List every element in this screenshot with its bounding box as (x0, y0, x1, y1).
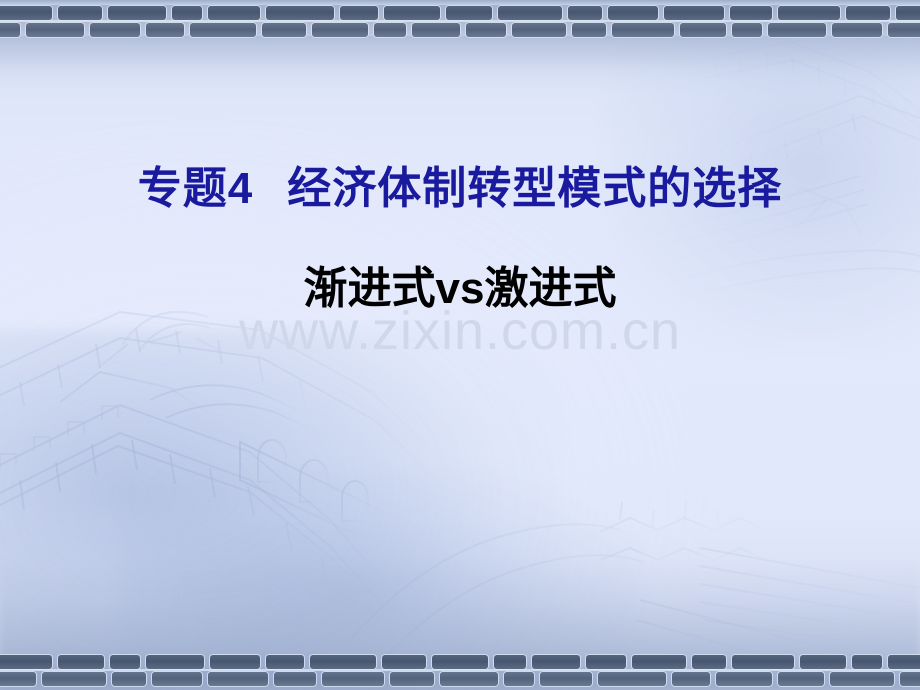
title-prefix: 专题 (138, 163, 228, 214)
slide-title: 专题4经济体制转型模式的选择 (0, 152, 920, 216)
subtitle-left: 渐进式 (304, 263, 436, 314)
presentation-slide: www.zixin.com.cn 专题4经济体制转型模式的选择 渐进式vs激进式 (0, 0, 920, 690)
title-number: 4 (228, 164, 253, 213)
slide-subtitle: 渐进式vs激进式 (0, 252, 920, 316)
title-main: 经济体制转型模式的选择 (287, 163, 782, 214)
subtitle-right: 激进式 (484, 263, 616, 314)
subtitle-separator: vs (436, 264, 485, 313)
slide-text-layer: www.zixin.com.cn 专题4经济体制转型模式的选择 渐进式vs激进式 (0, 0, 920, 690)
